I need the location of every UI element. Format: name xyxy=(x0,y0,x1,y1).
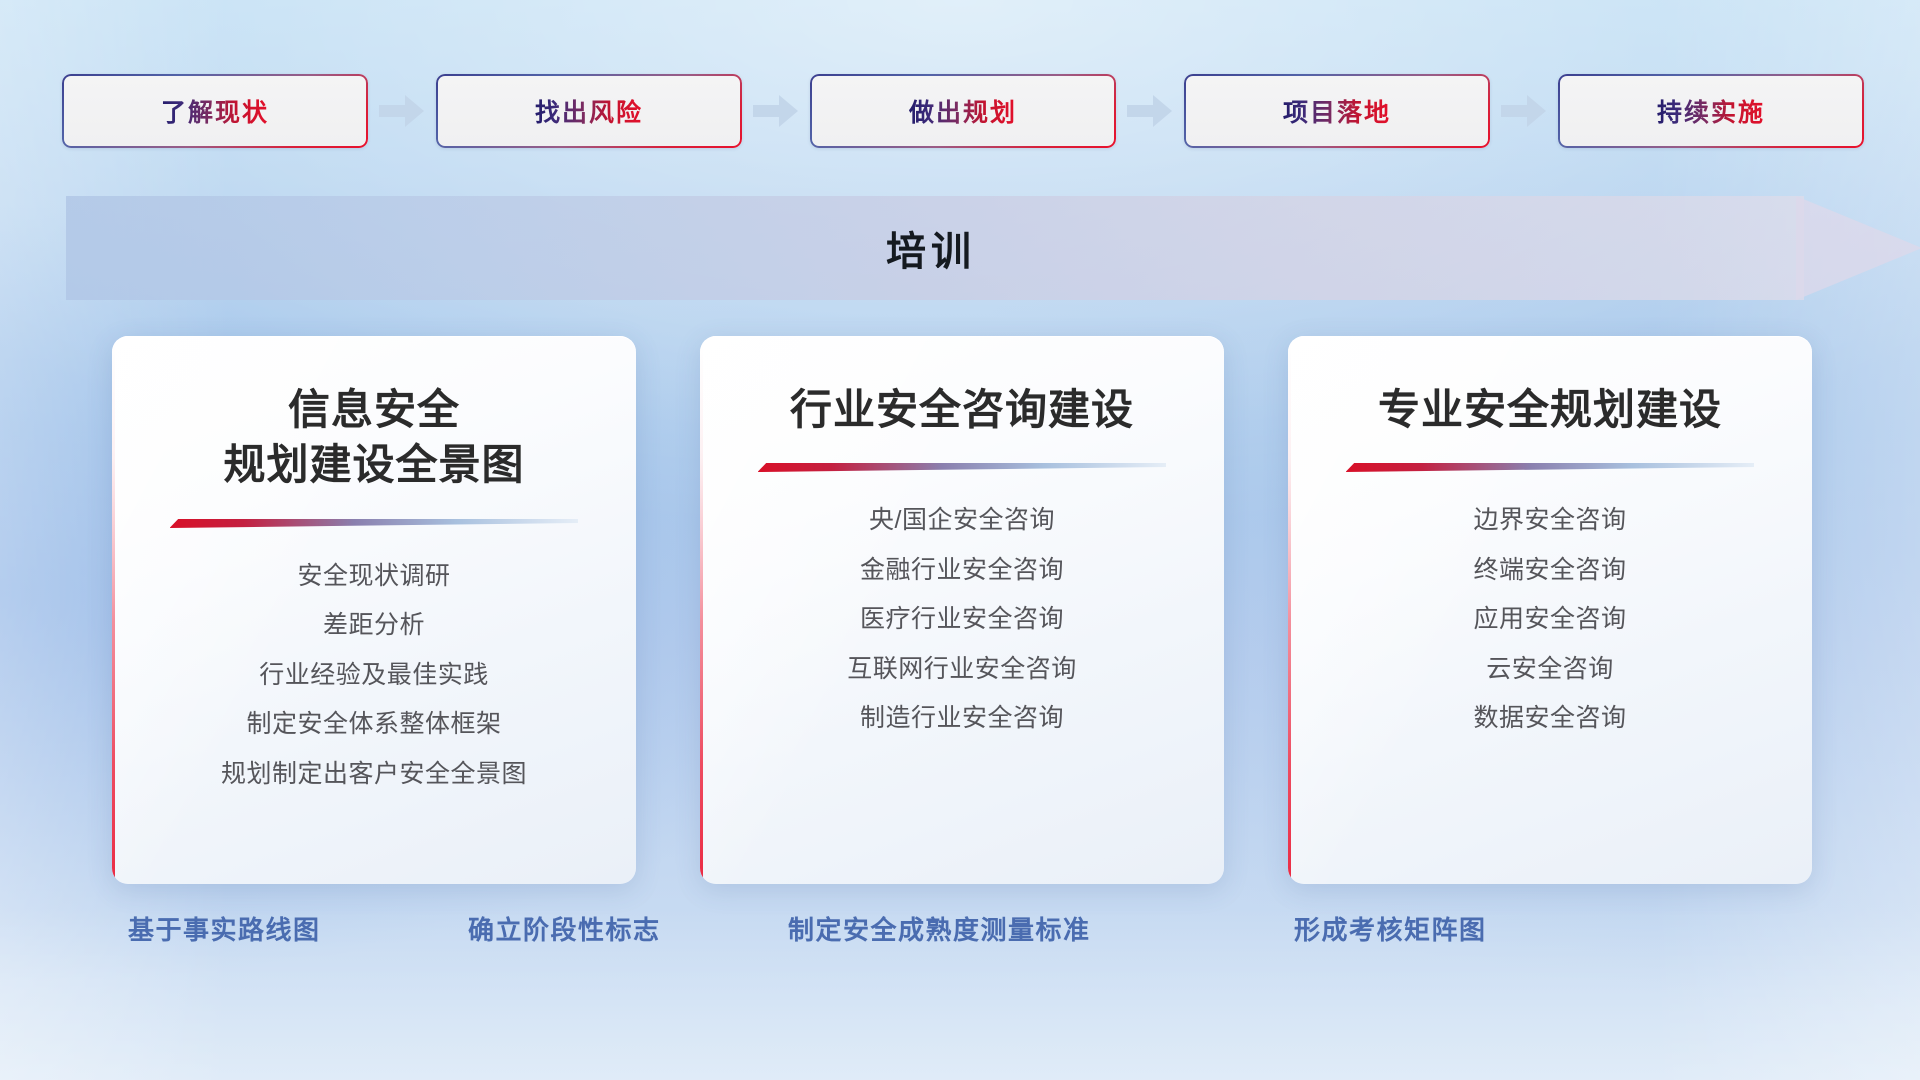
card-item: 云安全咨询 xyxy=(1486,651,1614,689)
card-item: 规划制定出客户安全全景图 xyxy=(221,756,527,794)
process-step-label: 找出风险 xyxy=(535,93,643,129)
gradient-divider xyxy=(758,463,1167,472)
card-item: 边界安全咨询 xyxy=(1473,502,1626,540)
process-step-2[interactable]: 找出风险 xyxy=(436,74,742,148)
arrow-right-icon xyxy=(742,74,810,148)
card-item: 制造行业安全咨询 xyxy=(860,700,1064,738)
footnote-label: 形成考核矩阵图 xyxy=(1294,910,1487,947)
capability-card[interactable]: 专业安全规划建设 xyxy=(1288,336,1812,884)
card-item: 医疗行业安全咨询 xyxy=(860,601,1064,639)
process-step-label: 了解现状 xyxy=(161,93,269,129)
training-banner-title: 培训 xyxy=(66,196,1856,300)
arrow-right-icon xyxy=(368,74,436,148)
process-step-row: 了解现状 找出风险 做出规划 项目落地 持续实施 xyxy=(62,74,1862,148)
card-item-list: 边界安全咨询 终端安全咨询 应用安全咨询 云安全咨询 数据安全咨询 xyxy=(1288,472,1812,782)
card-item: 终端安全咨询 xyxy=(1473,552,1626,590)
card-item: 差距分析 xyxy=(323,607,425,645)
card-title: 信息安全 规划建设全景图 xyxy=(223,382,524,493)
card-row: 信息安全 规划建设全景图 xyxy=(112,336,1812,884)
process-step-label: 项目落地 xyxy=(1283,93,1391,129)
process-step-1[interactable]: 了解现状 xyxy=(62,74,368,148)
process-step-label: 做出规划 xyxy=(909,93,1017,129)
card-item: 安全现状调研 xyxy=(297,558,450,596)
slide-canvas: 了解现状 找出风险 做出规划 项目落地 持续实施 xyxy=(0,0,1920,1080)
card-body: 央/国企安全咨询 金融行业安全咨询 医疗行业安全咨询 互联网行业安全咨询 制造行… xyxy=(700,463,1224,782)
footnote-row: 基于事实路线图 确立阶段性标志 制定安全成熟度测量标准 形成考核矩阵图 xyxy=(0,910,1920,970)
card-item: 制定安全体系整体框架 xyxy=(246,706,501,744)
card-title: 行业安全咨询建设 xyxy=(790,382,1134,437)
card-item-list: 安全现状调研 差距分析 行业经验及最佳实践 制定安全体系整体框架 规划制定出客户… xyxy=(112,528,636,838)
card-body: 边界安全咨询 终端安全咨询 应用安全咨询 云安全咨询 数据安全咨询 xyxy=(1288,463,1812,782)
card-item: 应用安全咨询 xyxy=(1473,601,1626,639)
process-step-4[interactable]: 项目落地 xyxy=(1184,74,1490,148)
footnote-label: 确立阶段性标志 xyxy=(468,910,661,947)
card-item: 互联网行业安全咨询 xyxy=(847,651,1077,689)
footnote-label: 基于事实路线图 xyxy=(128,910,321,947)
arrow-right-icon xyxy=(1490,74,1558,148)
capability-card[interactable]: 信息安全 规划建设全景图 xyxy=(112,336,636,884)
card-item: 金融行业安全咨询 xyxy=(860,552,1064,590)
card-item: 央/国企安全咨询 xyxy=(869,502,1055,540)
card-item: 行业经验及最佳实践 xyxy=(259,657,489,695)
process-step-5[interactable]: 持续实施 xyxy=(1558,74,1864,148)
card-item: 数据安全咨询 xyxy=(1473,700,1626,738)
process-step-label: 持续实施 xyxy=(1657,93,1765,129)
card-title: 专业安全规划建设 xyxy=(1378,382,1722,437)
card-body: 安全现状调研 差距分析 行业经验及最佳实践 制定安全体系整体框架 规划制定出客户… xyxy=(112,519,636,838)
gradient-divider xyxy=(170,519,579,528)
capability-card[interactable]: 行业安全咨询建设 xyxy=(700,336,1224,884)
gradient-divider xyxy=(1346,463,1755,472)
process-step-3[interactable]: 做出规划 xyxy=(810,74,1116,148)
card-item-list: 央/国企安全咨询 金融行业安全咨询 医疗行业安全咨询 互联网行业安全咨询 制造行… xyxy=(700,472,1224,782)
training-banner: 培训 xyxy=(66,196,1856,300)
footnote-label: 制定安全成熟度测量标准 xyxy=(788,910,1091,947)
arrow-right-icon xyxy=(1116,74,1184,148)
